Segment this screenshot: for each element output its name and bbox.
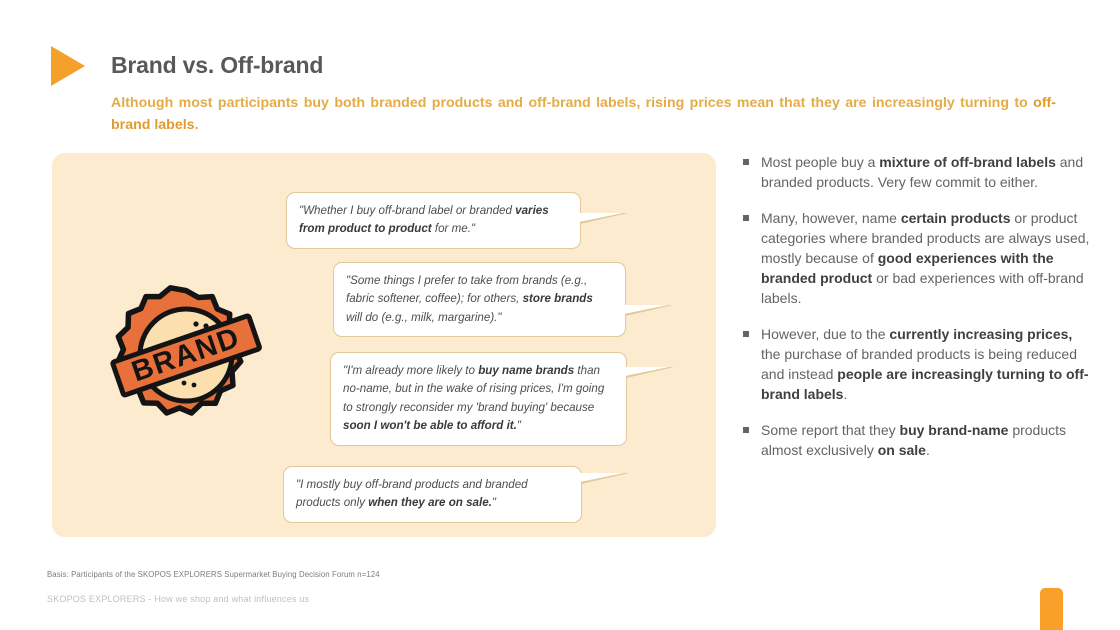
quote-bubble: "I mostly buy off-brand products and bra… [283, 466, 582, 523]
page-subtitle-text: Although most participants buy both bran… [111, 95, 1033, 111]
page-title: Brand vs. Off-brand [111, 52, 323, 79]
list-item: However, due to the currently increasing… [740, 324, 1090, 404]
square-bullet-icon [743, 427, 749, 433]
page-subtitle-tail: . [195, 117, 199, 133]
footer-deck-title: SKOPOS EXPLORERS - How we shop and what … [47, 594, 309, 604]
quote-bubble: "I'm already more likely to buy name bra… [330, 352, 627, 446]
quote-bubble: "Some things I prefer to take from brand… [333, 262, 626, 337]
list-item: Most people buy a mixture of off-brand l… [740, 152, 1090, 192]
square-bullet-icon [743, 159, 749, 165]
quote-text: "Whether I buy off-brand label or brande… [299, 204, 549, 235]
page-subtitle: Although most participants buy both bran… [111, 92, 1056, 136]
list-item-text: Some report that they buy brand-name pro… [761, 422, 1066, 458]
insights-list: Most people buy a mixture of off-brand l… [740, 152, 1090, 476]
footer-basis-note: Basis: Participants of the SKOPOS EXPLOR… [47, 570, 380, 579]
square-bullet-icon [743, 215, 749, 221]
list-item-text: Many, however, name certain products or … [761, 210, 1089, 306]
square-bullet-icon [743, 331, 749, 337]
quote-bubble: "Whether I buy off-brand label or brande… [286, 192, 581, 249]
play-triangle-icon [51, 46, 85, 86]
corner-accent-block [1040, 588, 1063, 630]
list-item-text: However, due to the currently increasing… [761, 326, 1089, 402]
brand-stamp-icon: BRAND [100, 280, 272, 430]
quote-text: "I'm already more likely to buy name bra… [343, 364, 604, 432]
list-item: Some report that they buy brand-name pro… [740, 420, 1090, 460]
list-item-text: Most people buy a mixture of off-brand l… [761, 154, 1083, 190]
quote-text: "Some things I prefer to take from brand… [346, 274, 593, 324]
quote-text: "I mostly buy off-brand products and bra… [296, 478, 528, 509]
list-item: Many, however, name certain products or … [740, 208, 1090, 308]
